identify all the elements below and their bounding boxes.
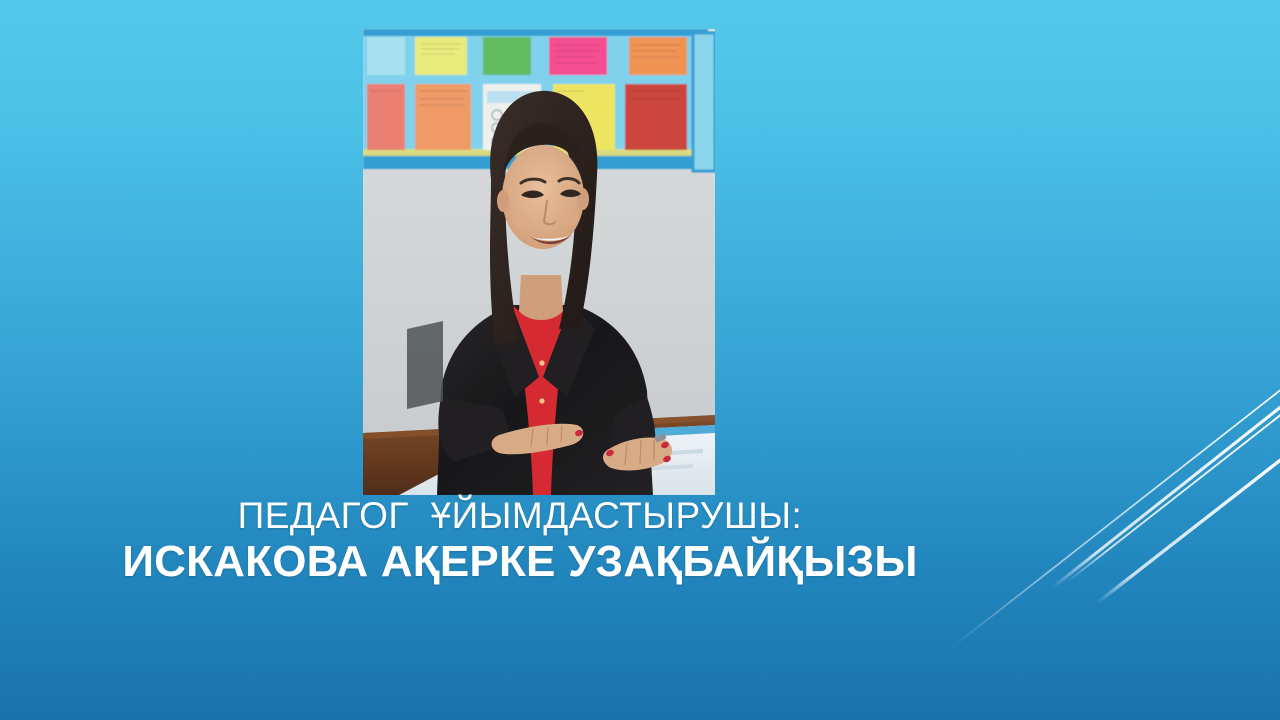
streak-line-2	[1052, 398, 1280, 588]
caption-role-line: ПЕДАГОГ ҰЙЫМДАСТЫРУШЫ:	[0, 496, 1040, 535]
caption-name-line: ИСКАКОВА АҚЕРКЕ УЗАҚБАЙҚЫЗЫ	[0, 539, 1040, 586]
photo-artwork	[363, 29, 715, 495]
streak-line-3	[1067, 406, 1280, 582]
streak-line-4	[1097, 451, 1280, 603]
teacher-photo	[363, 29, 715, 495]
presentation-slide: ПЕДАГОГ ҰЙЫМДАСТЫРУШЫ: ИСКАКОВА АҚЕРКЕ У…	[0, 0, 1280, 720]
slide-caption: ПЕДАГОГ ҰЙЫМДАСТЫРУШЫ: ИСКАКОВА АҚЕРКЕ У…	[0, 496, 1040, 586]
